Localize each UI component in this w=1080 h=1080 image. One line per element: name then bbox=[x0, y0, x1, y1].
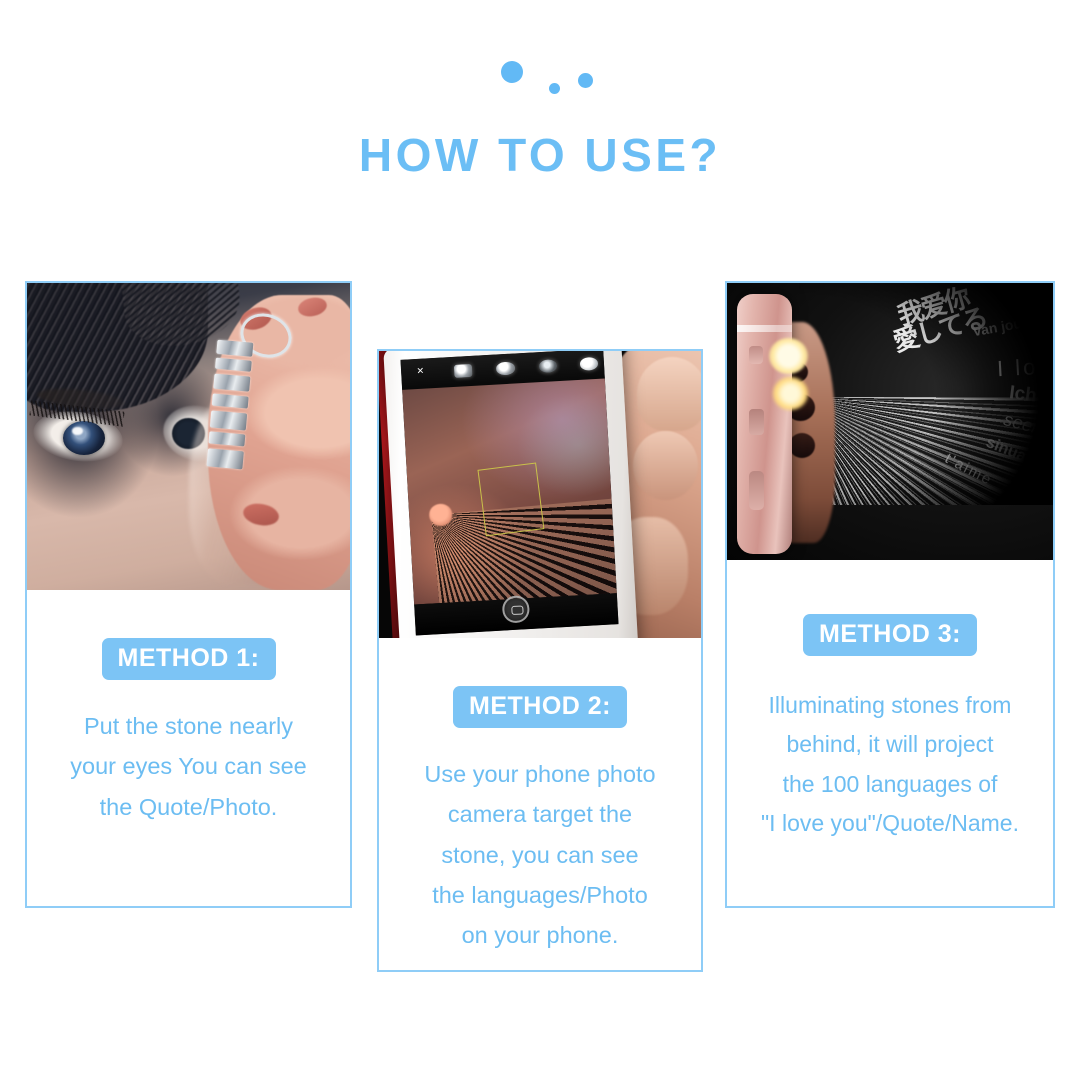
method-card-2: ✕ METHOD 2: Use your phone photo camera … bbox=[377, 349, 703, 972]
page-title: HOW TO USE? bbox=[0, 130, 1080, 181]
method-2-description: Use your phone photo camera target the s… bbox=[393, 754, 687, 956]
child-eye-with-pendant-photo bbox=[27, 283, 350, 590]
method-card-1: METHOD 1: Put the stone nearly your eyes… bbox=[25, 281, 352, 908]
method-1-badge: METHOD 1: bbox=[102, 638, 276, 680]
phone-camera-viewfinder-photo: ✕ bbox=[379, 351, 701, 638]
method-3-description: Illuminating stones from behind, it will… bbox=[741, 686, 1039, 844]
dot-small-icon bbox=[549, 83, 560, 94]
flash-off-icon: ✕ bbox=[411, 367, 430, 381]
method-3-badge: METHOD 3: bbox=[803, 614, 977, 656]
mode-icon bbox=[579, 357, 598, 371]
dot-medium-icon bbox=[578, 73, 593, 88]
method-card-3: 我爱你 愛してる madaro van jou I love you Ich l… bbox=[725, 281, 1055, 908]
dot-large-icon bbox=[501, 61, 523, 83]
phone-flashlight-projection-photo: 我爱你 愛してる madaro van jou I love you Ich l… bbox=[727, 283, 1053, 560]
method-1-description: Put the stone nearly your eyes You can s… bbox=[41, 706, 336, 827]
settings-icon bbox=[496, 362, 515, 376]
focus-box bbox=[477, 462, 544, 535]
method-2-badge: METHOD 2: bbox=[453, 686, 627, 728]
timer-icon bbox=[539, 359, 558, 373]
hdr-icon bbox=[454, 364, 473, 378]
